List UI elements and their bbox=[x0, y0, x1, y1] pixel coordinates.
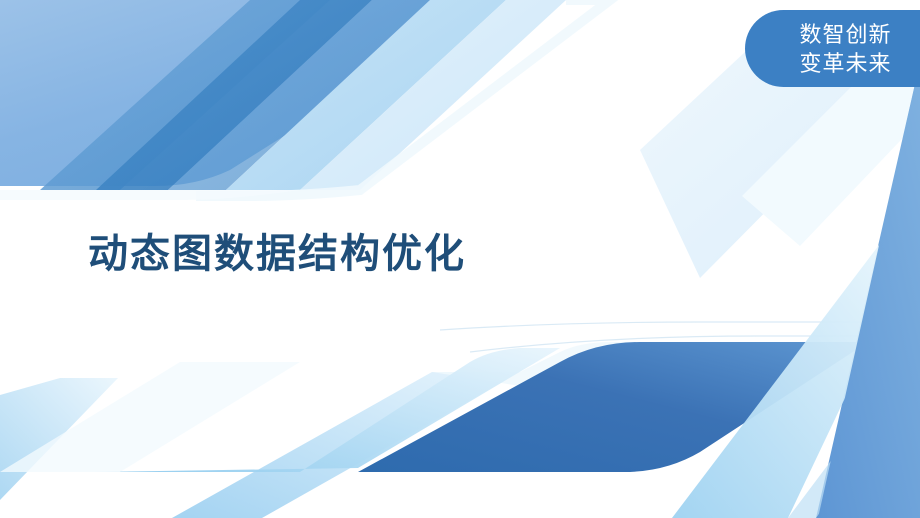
corner-badge-line-1: 数智创新 bbox=[799, 20, 891, 49]
corner-badge: 数智创新 变革未来 bbox=[745, 10, 920, 87]
slide-canvas: 数智创新 变革未来 动态图数据结构优化 bbox=[0, 0, 920, 518]
page-title: 动态图数据结构优化 bbox=[88, 228, 466, 280]
title-block: 动态图数据结构优化 bbox=[88, 228, 466, 280]
corner-badge-line-2: 变革未来 bbox=[799, 49, 891, 78]
